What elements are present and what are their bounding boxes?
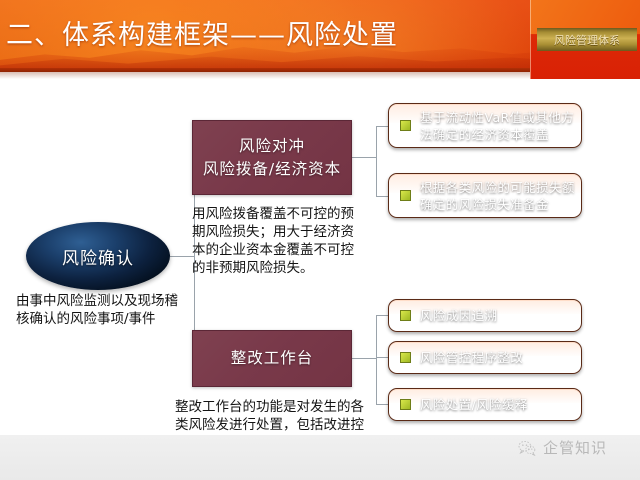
node-risk-confirmation-label: 风险确认 [62, 244, 134, 269]
node-risk-hedge-line2: 风险拨备/经济资本 [203, 160, 341, 178]
node-rectification-workbench[interactable]: 整改工作台 [192, 330, 352, 387]
node-risk-hedge-label: 风险对冲 风险拨备/经济资本 [203, 135, 341, 181]
item-risk-loss-reserve[interactable]: 根据各类风险的可能损失额确定的风险损失准备金 [388, 173, 582, 218]
item-risk-loss-reserve-label: 根据各类风险的可能损失额确定的风险损失准备金 [420, 179, 581, 213]
slide-root: 风险管理体系 二、体系构建框架——风险处置 风险确认 由事中风险监测以及现场稽核… [0, 0, 640, 480]
item-risk-cause-tracing[interactable]: 风险成因追溯 [388, 299, 582, 332]
node-risk-hedge[interactable]: 风险对冲 风险拨备/经济资本 [192, 120, 352, 195]
watermark: 企管知识 [518, 437, 607, 458]
page-title: 二、体系构建框架——风险处置 [6, 17, 398, 55]
connector-root-stub [170, 256, 194, 257]
wechat-icon [518, 440, 536, 456]
watermark-label: 企管知识 [543, 437, 607, 458]
bullet-square-icon [400, 352, 411, 363]
caption-risk-confirmation: 由事中风险监测以及现场稽核确认的风险事项/事件 [16, 292, 188, 328]
connector-hedge-stub [352, 157, 376, 158]
section-badge-label: 风险管理体系 [554, 32, 620, 48]
item-control-process-rectification[interactable]: 风险管控程序整改 [388, 341, 582, 374]
section-badge: 风险管理体系 [537, 28, 637, 51]
item-economic-capital-coverage-label: 基于流动性VaR值或其他方法确定的经济资本覆盖 [420, 109, 581, 143]
header-divider-line [530, 0, 531, 88]
node-risk-confirmation[interactable]: 风险确认 [26, 222, 170, 290]
bullet-square-icon [400, 120, 411, 131]
connector-rectify-stub [352, 358, 376, 359]
note-hedge: 用风险拨备覆盖不可控的预期风险损失；用大于经济资本的企业资本金覆盖不可控的非预期… [192, 205, 362, 277]
item-risk-disposal-mitigation[interactable]: 风险处置/风险缓释 [388, 388, 582, 421]
node-risk-hedge-line1: 风险对冲 [239, 137, 305, 155]
item-control-process-rectification-label: 风险管控程序整改 [420, 349, 523, 366]
bullet-square-icon [400, 190, 411, 201]
connector-rectify-bus [376, 315, 377, 405]
connector-hedge-bus [376, 126, 377, 196]
node-rectification-workbench-label: 整改工作台 [231, 347, 314, 370]
item-risk-disposal-mitigation-label: 风险处置/风险缓释 [420, 396, 528, 413]
bullet-square-icon [400, 399, 411, 410]
item-economic-capital-coverage[interactable]: 基于流动性VaR值或其他方法确定的经济资本覆盖 [388, 103, 582, 148]
bullet-square-icon [400, 310, 411, 321]
item-risk-cause-tracing-label: 风险成因追溯 [420, 307, 497, 324]
